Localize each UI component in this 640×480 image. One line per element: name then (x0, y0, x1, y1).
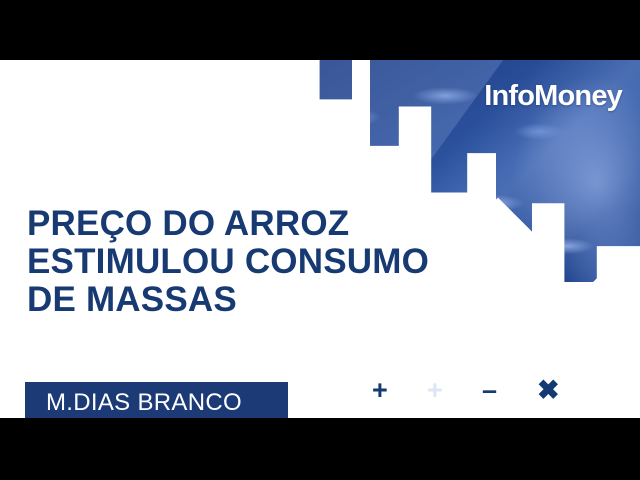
ticker-company-name: M.DIAS BRANCO (46, 389, 288, 416)
plus-icon: + (372, 377, 427, 404)
letterbox-bar-bottom (0, 418, 640, 480)
headline-line-2: ESTIMULOU CONSUMO (27, 243, 537, 281)
video-thumbnail: InfoMoney PREÇO DO ARROZ ESTIMULOU CONSU… (0, 0, 640, 480)
headline-line-3: DE MASSAS (27, 281, 537, 319)
multiply-icon: ✖ (537, 377, 592, 404)
headline-line-1: PREÇO DO ARROZ (27, 205, 537, 243)
thumbnail-canvas: InfoMoney PREÇO DO ARROZ ESTIMULOU CONSU… (0, 60, 640, 418)
ticker-badge: M.DIAS BRANCO MDIA3 (25, 382, 288, 418)
headline-title: PREÇO DO ARROZ ESTIMULOU CONSUMO DE MASS… (27, 205, 537, 319)
plus-icon: + (427, 377, 482, 404)
infomoney-logo: InfoMoney (484, 82, 622, 111)
letterbox-bar-top (0, 0, 640, 60)
minus-icon: – (482, 377, 537, 404)
market-symbol-grid: + + – ✖ – + + + (372, 362, 592, 418)
